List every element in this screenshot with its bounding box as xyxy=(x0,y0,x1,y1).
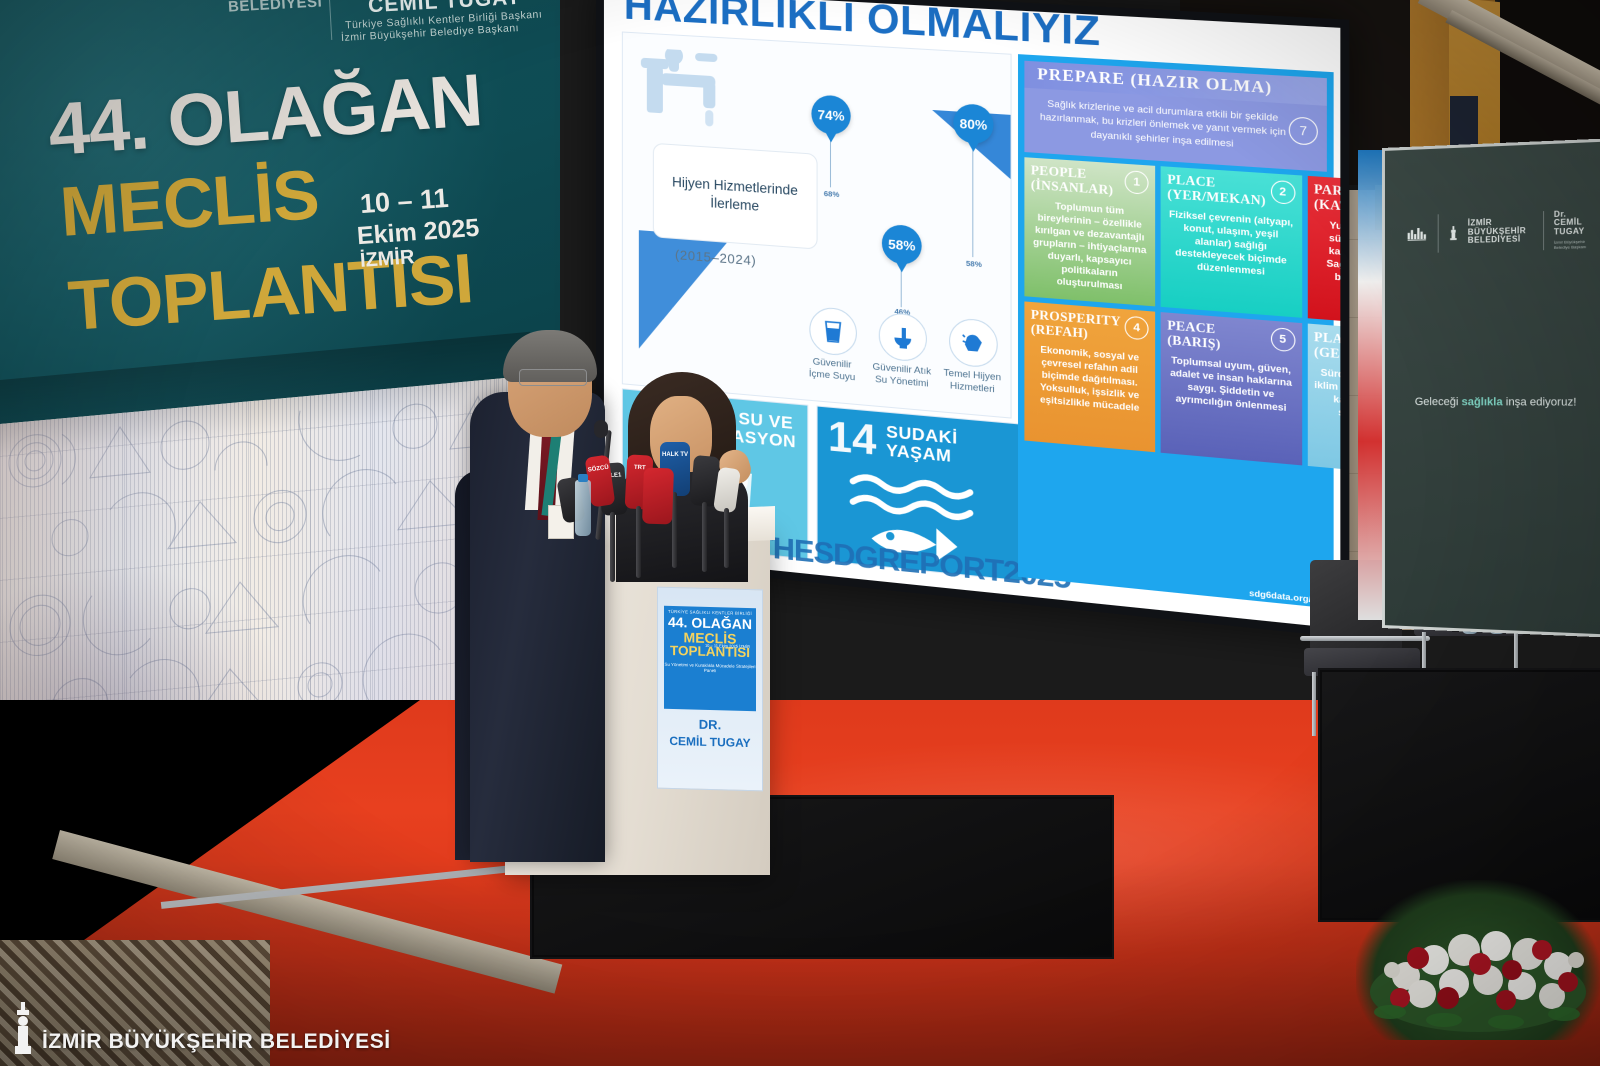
backdrop-date-line1: 10 – 11 xyxy=(359,183,450,220)
drinking-water-icon xyxy=(809,306,857,357)
right-standing-banner: İZMİR BÜYÜKŞEHİR BELEDİYESİ Dr. CEMİL TU… xyxy=(1382,138,1600,637)
conference-photo-scene: BELEDİYESİ CEMİL TUGAY Türkiye Sağlıklı … xyxy=(0,0,1600,1066)
prepare-card-participation: PARTICIPATION (KATILIM) 3 Yurttaşların k… xyxy=(1307,176,1340,331)
stat-bubble-1: 74% xyxy=(811,94,850,135)
stat-baseline-3: 58% xyxy=(966,259,982,269)
stat-label-3: Temel Hijyen Hizmetleri xyxy=(931,366,1014,399)
banner-person-title: İzmir Büyükşehir Belediye Başkanı xyxy=(1554,239,1589,251)
prepare-card-people: PEOPLE (İNSANLAR) 1 Toplumun tüm bireyle… xyxy=(1024,157,1155,306)
stat-bubble-2: 58% xyxy=(882,224,922,266)
flower-arrangement xyxy=(1356,880,1600,1040)
slide-left-panel: Hijyen Hizmetlerinde İlerleme (2015–2024… xyxy=(622,31,1012,418)
stat-baseline-1: 68% xyxy=(824,189,840,199)
press-mic-extra-red xyxy=(642,467,674,524)
faucet-icon xyxy=(637,47,768,156)
prepare-panel: PREPARE (HAZIR OLMA) Sağlık krizlerine v… xyxy=(1018,54,1334,609)
prepare-card-peace: PEACE (BARIŞ) 5 Toplumsal uyum, güven, a… xyxy=(1161,312,1302,465)
prepare-card-grid: PEOPLE (İNSANLAR) 1 Toplumun tüm bireyle… xyxy=(1024,157,1326,467)
podium-sign-date: 10 – 11 Ekim 2025 İZMİR xyxy=(705,643,750,650)
podium-sign-name-title: DR. xyxy=(658,716,762,734)
podium-sign-subtitle: Su Yönetimi ve Kuraklıkla Mücadele Strat… xyxy=(664,661,756,675)
gooseneck-mic-head xyxy=(594,420,608,438)
prepare-card-planet: PLANET (GEZEGEN) 6 Sürdürülebilir kalkın… xyxy=(1307,324,1340,481)
banner-person-name: Dr. CEMİL TUGAY xyxy=(1554,209,1589,237)
banner-logo2-label: İZMİR BÜYÜKŞEHİR BELEDİYESİ xyxy=(1468,217,1533,246)
clock-tower-icon xyxy=(12,1002,34,1054)
sdg-card-14-number: 14 xyxy=(828,412,876,465)
watermark: İZMİR BÜYÜKŞEHİR BELEDİYESİ xyxy=(12,1002,391,1054)
backdrop-city: İZMİR xyxy=(359,246,415,273)
podium-water-bottle-cap xyxy=(578,474,588,482)
sdg-card-14-line2: YAŞAM xyxy=(886,441,951,465)
handwashing-icon xyxy=(949,317,998,369)
hygiene-callout-text: Hijyen Hizmetlerinde İlerleme xyxy=(654,172,817,220)
prepare-card-place: PLACE (YER/MEKAN) 2 Fiziksel çevrenin (a… xyxy=(1161,166,1302,318)
sanitation-toilet-icon xyxy=(879,312,927,363)
banner-slogan: Geleceği sağlıkla inşa ediyoruz! xyxy=(1385,396,1600,409)
speaker-glasses xyxy=(519,369,587,386)
prepare-card-prosperity: PROSPERITY (REFAH) 4 Ekonomik, sosyal ve… xyxy=(1024,301,1155,452)
hygiene-callout: Hijyen Hizmetlerinde İlerleme xyxy=(653,143,818,250)
podium-sign-name: CEMİL TUGAY xyxy=(658,734,762,751)
watermark-text: İZMİR BÜYÜKŞEHİR BELEDİYESİ xyxy=(42,1030,391,1054)
podium-water-bottle xyxy=(575,480,591,536)
city-skyline-logo-icon xyxy=(1407,217,1428,252)
podium-sign-blue-block: TÜRKİYE SAĞLIKLI KENTLER BİRLİĞİ 44. OLA… xyxy=(664,606,756,711)
clock-tower-logo-icon xyxy=(1448,216,1457,251)
prepare-badge-7: 7 xyxy=(1289,116,1318,145)
banner-logo-row: İZMİR BÜYÜKŞEHİR BELEDİYESİ Dr. CEMİL TU… xyxy=(1407,202,1589,260)
flower-bouquet-icon xyxy=(1356,880,1600,1040)
podium-sign: TÜRKİYE SAĞLIKLI KENTLER BİRLİĞİ 44. OLA… xyxy=(657,587,763,792)
